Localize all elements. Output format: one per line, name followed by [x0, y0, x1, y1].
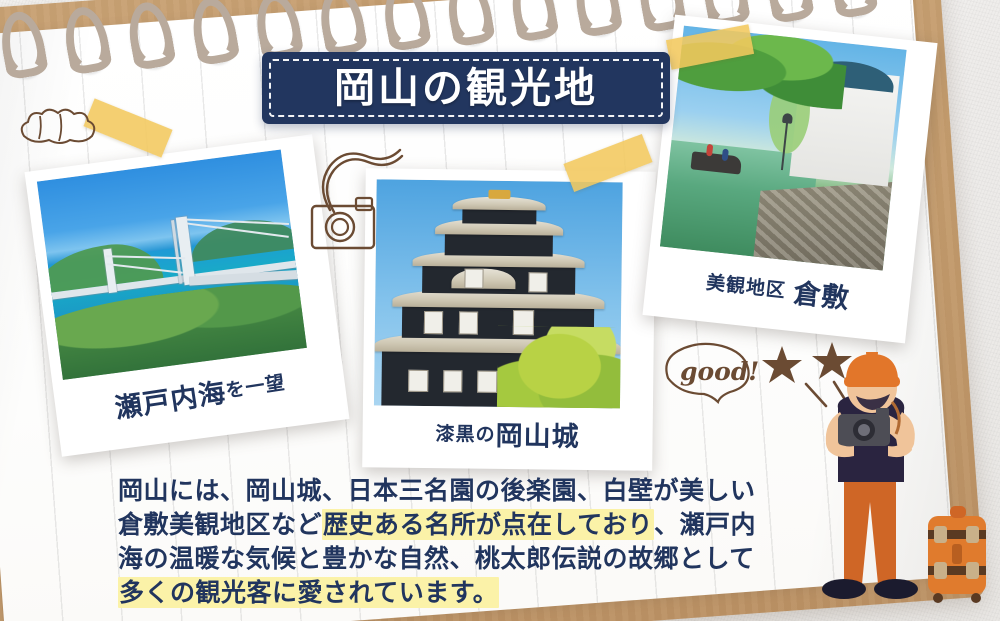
camera-icon [300, 132, 420, 257]
highlighted-text: 多くの観光客に愛されています。 [118, 577, 499, 608]
body-text-run: 、瀬戸内 [654, 510, 756, 539]
caption-main: 瀬戸内海 [112, 370, 229, 425]
traveler-illustration [800, 352, 990, 619]
caption-main: 倉敷 [792, 271, 852, 316]
caption-main: 岡山城 [495, 413, 579, 453]
good-speech-bubble: good!! [660, 338, 760, 409]
body-text-run: 海の温暖な気候と豊かな自然、桃太郎伝説の故郷として [118, 544, 755, 573]
page-title: 岡山の観光地 [334, 68, 598, 109]
photo-seto-inland-sea [37, 150, 307, 380]
caption-tail: を一望 [224, 367, 287, 403]
highlighted-text: 歴史ある名所が点在しており [322, 509, 654, 540]
suitcase-icon [928, 506, 986, 603]
body-line: 多くの観光客に愛されています。 [118, 576, 818, 610]
scrapbook-page: 岡山の観光地 瀬戸内海 を一望 [0, 0, 1000, 621]
body-line: 海の温暖な気候と豊かな自然、桃太郎伝説の故郷として [118, 542, 818, 576]
body-text-run: 岡山には、岡山城、日本三名園の後楽園、白壁が美しい [118, 476, 756, 505]
body-text-run: 倉敷美観地区など [118, 510, 322, 539]
photo-caption-okayama-castle: 漆黒の 岡山城 [373, 405, 642, 460]
cloud-icon [16, 104, 102, 153]
body-paragraph: 岡山には、岡山城、日本三名園の後楽園、白壁が美しい倉敷美観地区など歴史ある名所が… [118, 474, 818, 610]
body-line: 岡山には、岡山城、日本三名園の後楽園、白壁が美しい [118, 474, 818, 508]
body-line: 倉敷美観地区など歴史ある名所が点在しており、瀬戸内 [118, 508, 818, 542]
good-label: good!! [680, 357, 760, 386]
caption-prefix: 美観地区 [705, 267, 787, 302]
caption-prefix: 漆黒の [435, 419, 495, 447]
page-title-banner: 岡山の観光地 [262, 52, 670, 124]
